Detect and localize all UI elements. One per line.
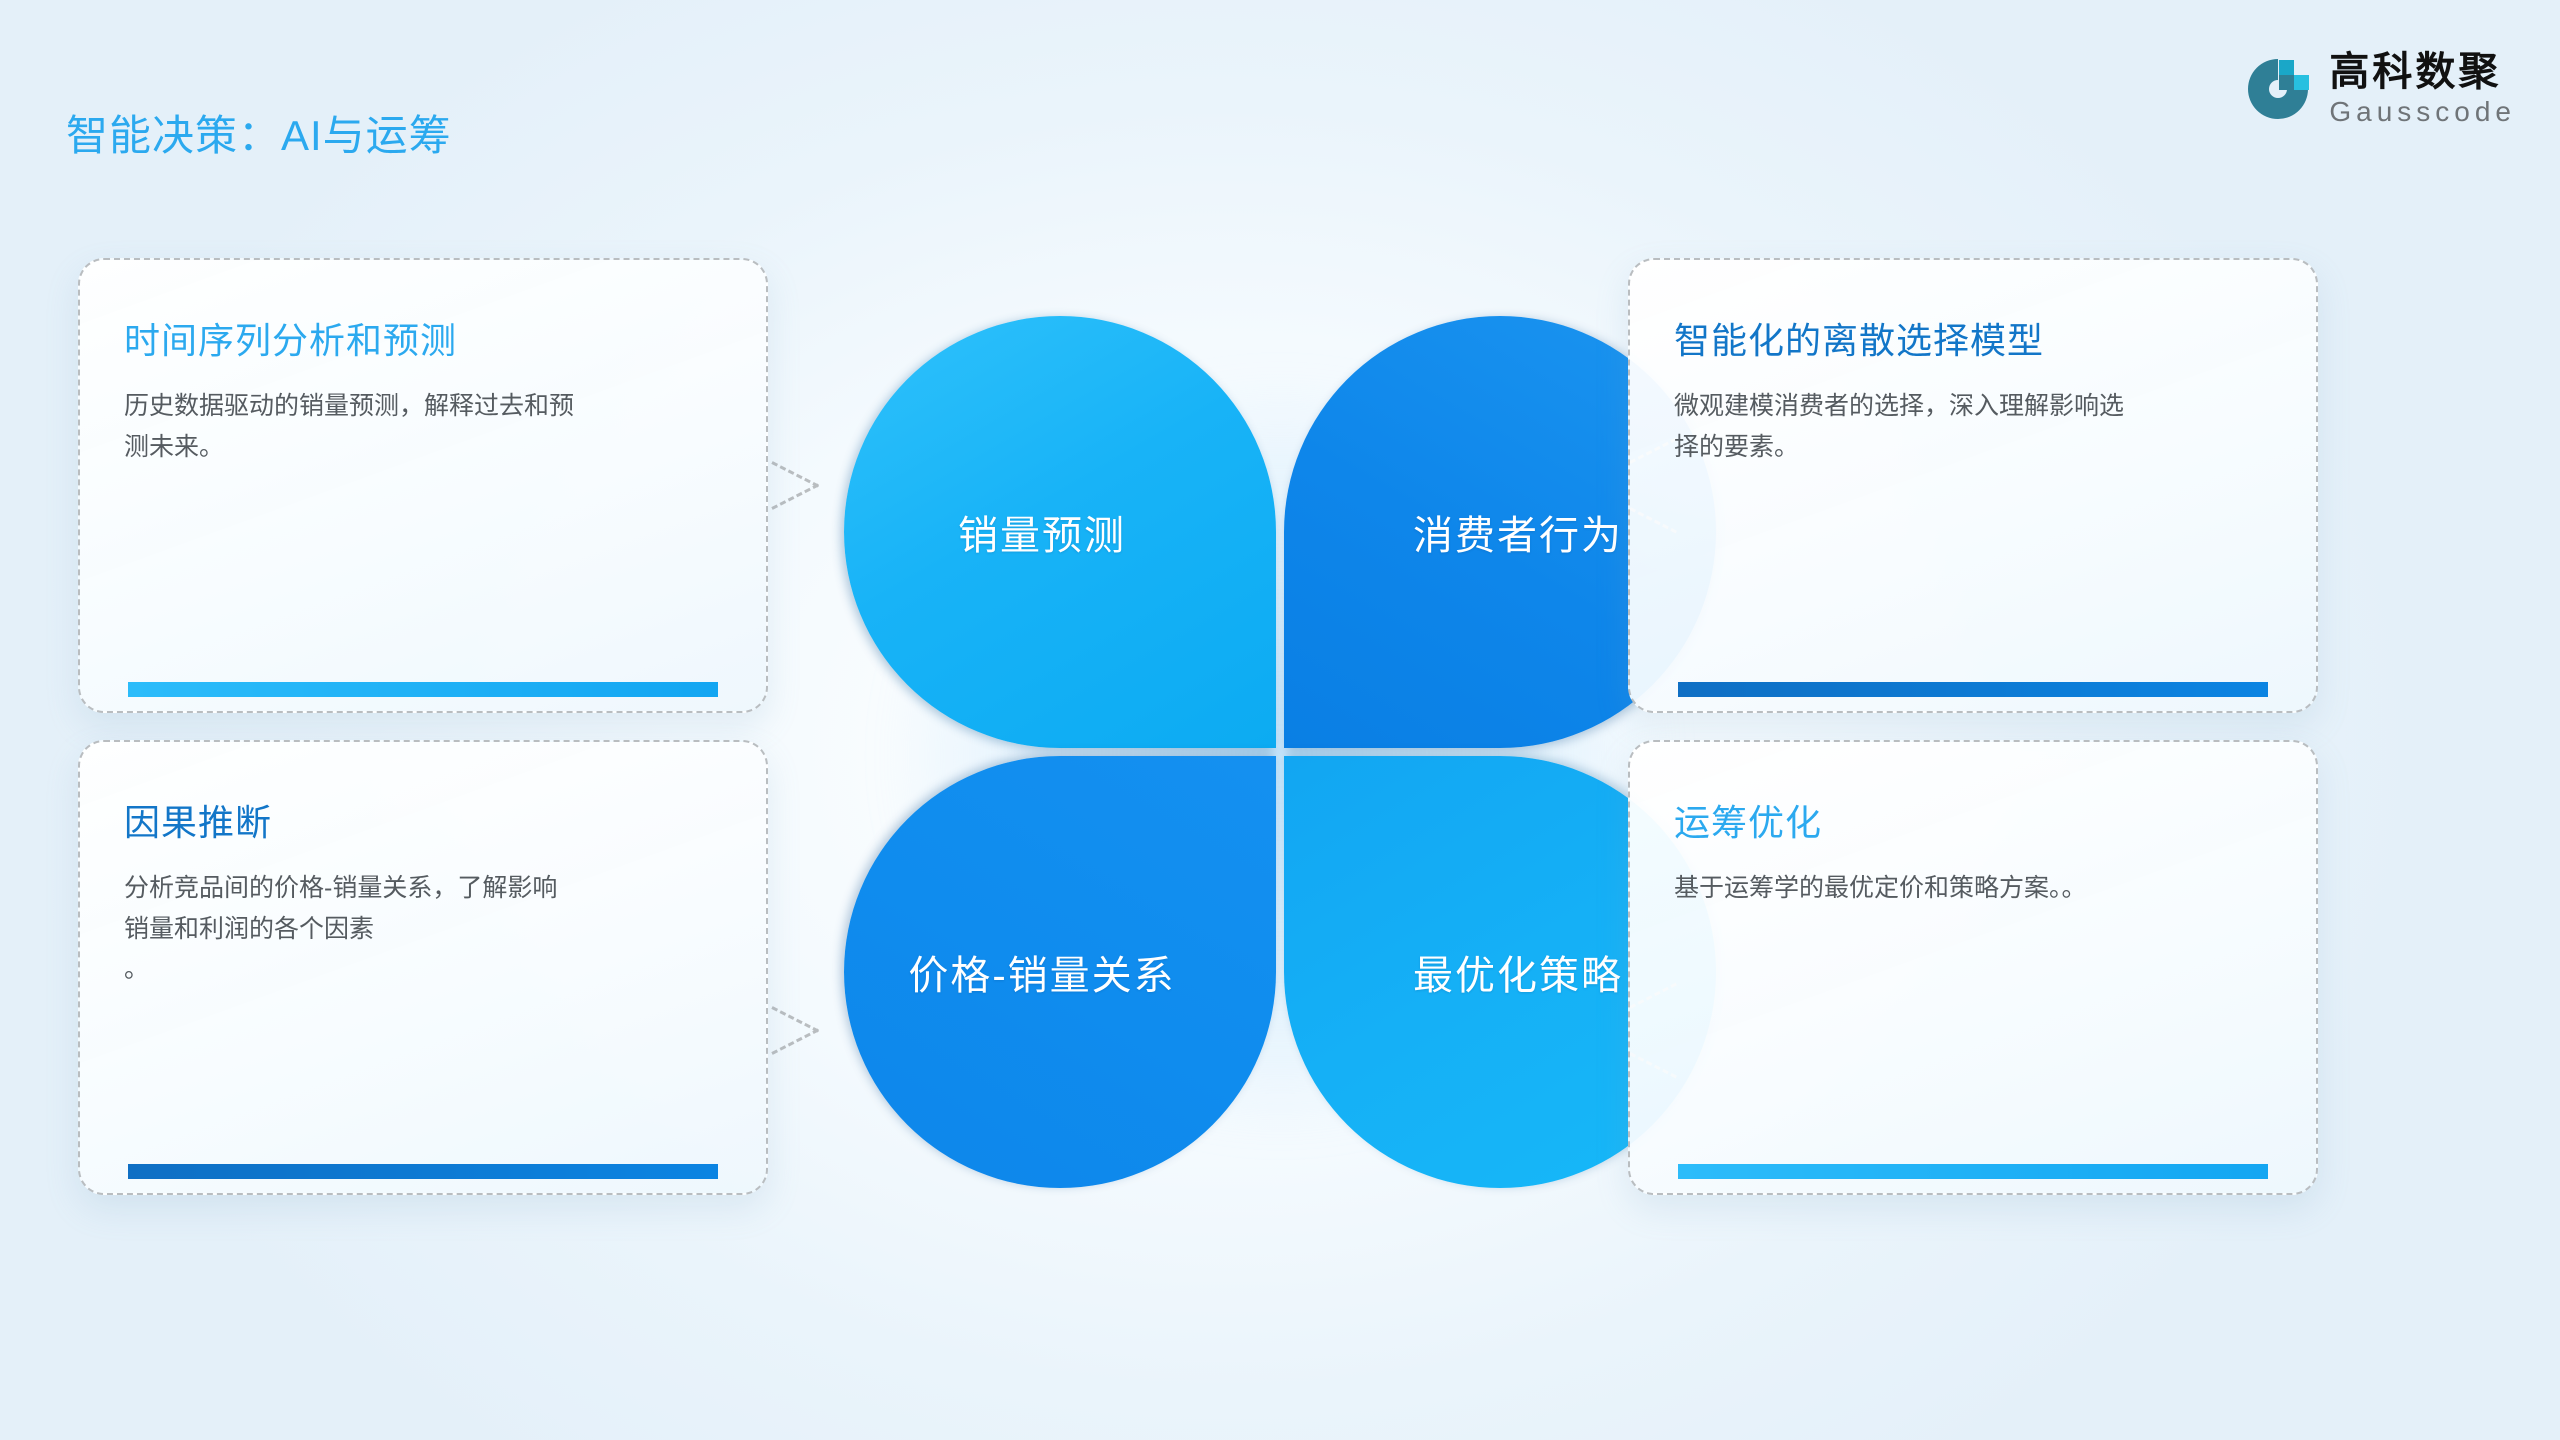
brand-logo: 高科数聚 Gausscode bbox=[2245, 52, 2516, 126]
card-accent-bar bbox=[128, 682, 718, 697]
card-description: 历史数据驱动的销量预测，解释过去和预 测未来。 bbox=[124, 386, 722, 467]
card-description: 分析竞品间的价格-销量关系，了解影响 销量和利润的各个因素 。 bbox=[124, 868, 722, 990]
flower-diagram: 销量预测 消费者行为 价格-销量关系 最优化策略 bbox=[840, 316, 1720, 1196]
card-discrete-choice-model[interactable]: 智能化的离散选择模型 微观建模消费者的选择，深入理解影响选 择的要素。 bbox=[1628, 258, 2318, 713]
brand-name-en: Gausscode bbox=[2329, 98, 2516, 126]
card-causal-inference[interactable]: 因果推断 分析竞品间的价格-销量关系，了解影响 销量和利润的各个因素 。 bbox=[78, 740, 768, 1195]
card-title: 智能化的离散选择模型 bbox=[1674, 312, 2272, 364]
card-description: 微观建模消费者的选择，深入理解影响选 择的要素。 bbox=[1674, 386, 2272, 467]
card-description: 基于运筹学的最优定价和策略方案。。 bbox=[1674, 868, 2272, 909]
gausscode-circle-logo-icon bbox=[2245, 56, 2311, 122]
card-title: 因果推断 bbox=[124, 794, 722, 846]
connector-chevron-right-icon bbox=[772, 455, 824, 515]
slide-canvas: 智能决策：AI与运筹 高科数聚 Gausscode 销量预测 消费者行为 价格-… bbox=[0, 0, 2560, 1440]
page-title: 智能决策：AI与运筹 bbox=[66, 102, 452, 163]
petal-sales-forecast[interactable]: 销量预测 bbox=[844, 316, 1276, 748]
card-title: 运筹优化 bbox=[1674, 794, 2272, 846]
petal-label: 销量预测 bbox=[958, 503, 1126, 561]
petal-label: 价格-销量关系 bbox=[908, 943, 1175, 1001]
card-time-series[interactable]: 时间序列分析和预测 历史数据驱动的销量预测，解释过去和预 测未来。 bbox=[78, 258, 768, 713]
card-title: 时间序列分析和预测 bbox=[124, 312, 722, 364]
connector-chevron-left-icon bbox=[1578, 455, 1630, 515]
card-accent-bar bbox=[1678, 682, 2268, 697]
card-operations-optimization[interactable]: 运筹优化 基于运筹学的最优定价和策略方案。。 bbox=[1628, 740, 2318, 1195]
petal-price-sales[interactable]: 价格-销量关系 bbox=[844, 756, 1276, 1188]
connector-chevron-left-icon bbox=[1578, 1000, 1630, 1060]
connector-chevron-right-icon bbox=[772, 1000, 824, 1060]
brand-name-cn: 高科数聚 bbox=[2329, 52, 2516, 92]
brand-text: 高科数聚 Gausscode bbox=[2329, 52, 2516, 126]
card-accent-bar bbox=[1678, 1164, 2268, 1179]
petal-label: 最优化策略 bbox=[1413, 943, 1623, 1001]
card-accent-bar bbox=[128, 1164, 718, 1179]
